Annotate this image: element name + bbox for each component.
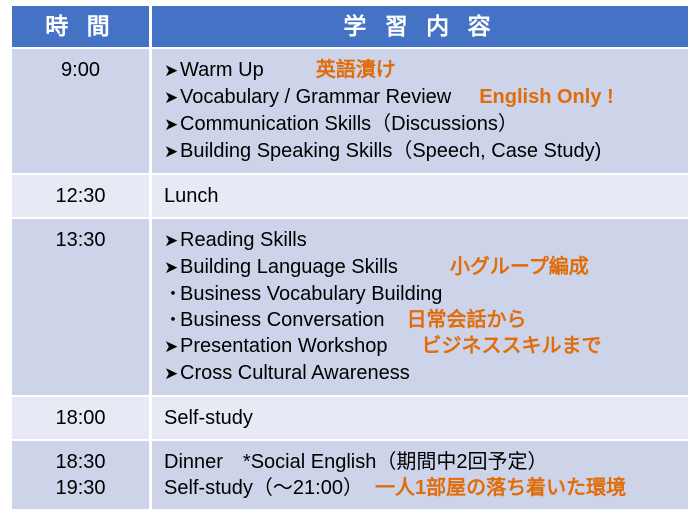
arrow-bullet-icon: ➤ — [164, 255, 180, 281]
time-line: 19:30 — [12, 475, 149, 501]
dot-bullet-icon: ・ — [164, 307, 180, 333]
arrow-bullet-icon: ➤ — [164, 58, 180, 84]
table-row: 9:00 ➤Warm Up英語漬け ➤Vocabulary / Grammar … — [12, 49, 688, 175]
dot-bullet-icon: ・ — [164, 281, 180, 307]
list-item: Lunch — [164, 183, 688, 209]
arrow-bullet-icon: ➤ — [164, 334, 180, 360]
list-item-label: Cross Cultural Awareness — [180, 362, 410, 384]
annotation-note: 小グループ編成 — [450, 256, 589, 278]
table-row: 12:30 Lunch — [12, 175, 688, 219]
list-item: ➤Communication Skills（Discussions） — [164, 111, 688, 138]
list-item: ➤Vocabulary / Grammar ReviewEnglish Only… — [164, 84, 688, 111]
annotation-note: 日常会話から — [407, 309, 527, 331]
list-item: ➤Reading Skills — [164, 227, 688, 254]
annotation-note: ビジネススキルまで — [422, 335, 602, 357]
list-item: ・Business Vocabulary Building — [164, 281, 688, 307]
header-row: 時 間 学 習 内 容 — [12, 6, 688, 49]
arrow-bullet-icon: ➤ — [164, 112, 180, 138]
list-item: Dinner *Social English（期間中2回予定） — [164, 449, 688, 475]
list-item-label: Communication Skills（Discussions） — [180, 113, 518, 135]
list-item: ➤Cross Cultural Awareness — [164, 360, 688, 387]
list-item: Self-study（～21:00）一人1部屋の落ち着いた環境 — [164, 475, 688, 501]
annotation-note: English Only ! — [479, 86, 613, 108]
list-item: ➤Building Language Skills小グループ編成 — [164, 254, 688, 281]
header-content: 学 習 内 容 — [152, 6, 688, 49]
content-cell: Dinner *Social English（期間中2回予定） Self-stu… — [152, 441, 688, 511]
table-body: 9:00 ➤Warm Up英語漬け ➤Vocabulary / Grammar … — [12, 49, 688, 511]
arrow-bullet-icon: ➤ — [164, 85, 180, 111]
list-item-label: Dinner *Social English（期間中2回予定） — [164, 451, 547, 473]
content-cell: Self-study — [152, 397, 688, 441]
list-item-label: Lunch — [164, 185, 219, 207]
list-item: Self-study — [164, 405, 688, 431]
list-item: ➤Building Speaking Skills（Speech, Case S… — [164, 138, 688, 165]
annotation-note: 英語漬け — [316, 59, 396, 81]
content-cell: ➤Reading Skills ➤Building Language Skill… — [152, 219, 688, 397]
list-item-label: Building Language Skills — [180, 256, 398, 278]
schedule-table: 時 間 学 習 内 容 9:00 ➤Warm Up英語漬け ➤Vocabular… — [12, 6, 688, 511]
header-time: 時 間 — [12, 6, 152, 49]
time-cell: 18:30 19:30 — [12, 441, 152, 511]
arrow-bullet-icon: ➤ — [164, 228, 180, 254]
table-row: 18:00 Self-study — [12, 397, 688, 441]
table-row: 18:30 19:30 Dinner *Social English（期間中2回… — [12, 441, 688, 511]
list-item-label: Business Vocabulary Building — [180, 283, 442, 305]
time-cell: 13:30 — [12, 219, 152, 397]
table-header: 時 間 学 習 内 容 — [12, 6, 688, 49]
content-cell: Lunch — [152, 175, 688, 219]
list-item-label: Self-study — [164, 407, 253, 429]
time-line: 18:30 — [12, 449, 149, 475]
list-item-label: Warm Up — [180, 59, 264, 81]
list-item-label: Presentation Workshop — [180, 335, 388, 357]
list-item-label: Vocabulary / Grammar Review — [180, 86, 451, 108]
table-row: 13:30 ➤Reading Skills ➤Building Language… — [12, 219, 688, 397]
list-item: ・Business Conversation日常会話から — [164, 307, 688, 333]
arrow-bullet-icon: ➤ — [164, 361, 180, 387]
list-item: ➤Presentation Workshopビジネススキルまで — [164, 333, 688, 360]
list-item-label: Reading Skills — [180, 229, 307, 251]
time-cell: 9:00 — [12, 49, 152, 175]
annotation-note: 一人1部屋の落ち着いた環境 — [375, 477, 626, 499]
list-item-label: Business Conversation — [180, 309, 385, 331]
content-cell: ➤Warm Up英語漬け ➤Vocabulary / Grammar Revie… — [152, 49, 688, 175]
list-item-label: Building Speaking Skills（Speech, Case St… — [180, 140, 601, 162]
list-item-label: Self-study（～21:00） — [164, 477, 363, 499]
arrow-bullet-icon: ➤ — [164, 139, 180, 165]
list-item: ➤Warm Up英語漬け — [164, 57, 688, 84]
time-cell: 12:30 — [12, 175, 152, 219]
time-cell: 18:00 — [12, 397, 152, 441]
